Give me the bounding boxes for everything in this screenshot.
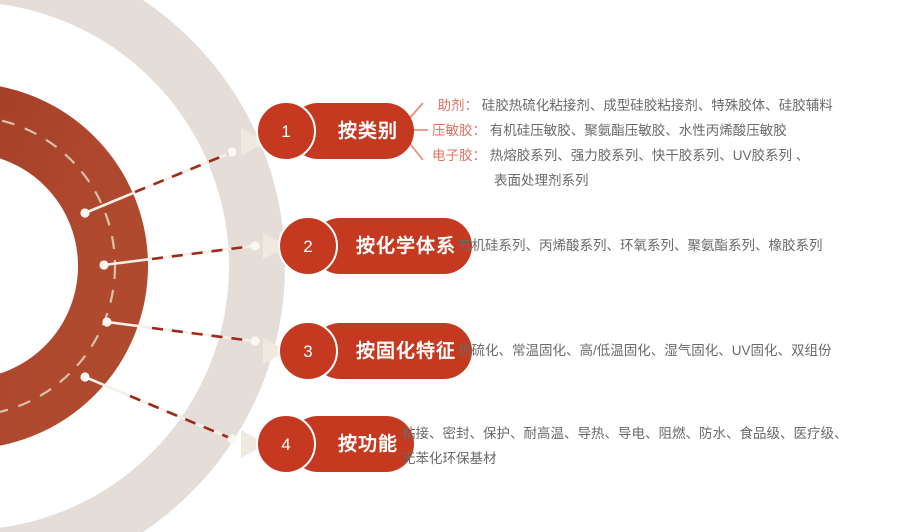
detail-value-1-1: 硅胶热硫化粘接剂、成型硅胶粘接剂、特殊胶体、硅胶辅料 xyxy=(482,98,833,113)
number-circle-3[interactable]: 3 xyxy=(278,321,338,381)
detail-key-1-3: 电子胶： xyxy=(432,143,486,168)
number-circle-2[interactable]: 2 xyxy=(278,216,338,276)
detail-key-1-2: 压敏胶： xyxy=(432,118,486,143)
number-1: 1 xyxy=(281,123,290,140)
inner-brick-ring xyxy=(0,118,113,414)
detail-value-2-1: 有机硅系列、丙烯酸系列、环氧系列、聚氨酯系列、橡胶系列 xyxy=(458,233,823,258)
detail-text-2: 有机硅系列、丙烯酸系列、环氧系列、聚氨酯系列、橡胶系列 xyxy=(458,233,823,258)
pill-label-2: 按化学体系 xyxy=(356,237,456,256)
number-circle-1[interactable]: 1 xyxy=(256,101,316,161)
detail-value-1-2: 有机硅压敏胶、聚氨酯压敏胶、水性丙烯酸压敏胶 xyxy=(490,123,787,138)
detail-line-1-1: 助剂： 硅胶热硫化粘接剂、成型硅胶粘接剂、特殊胶体、硅胶辅料 xyxy=(432,93,833,118)
detail-continuation-4: 无苯化环保基材 xyxy=(402,446,848,471)
detail-continuation-1: 表面处理剂系列 xyxy=(432,168,833,193)
pill-label-4: 按功能 xyxy=(338,435,398,454)
number-2: 2 xyxy=(303,238,312,255)
number-3: 3 xyxy=(303,343,312,360)
detail-key-1-1: 助剂： xyxy=(432,93,478,118)
infographic-canvas: 按类别 1 助剂： 硅胶热硫化粘接剂、成型硅胶粘接剂、特殊胶体、硅胶辅料 压敏胶… xyxy=(0,0,923,532)
detail-text-3: 热硫化、常温固化、高/低温固化、湿气固化、UV固化、双组份 xyxy=(458,338,832,363)
number-4: 4 xyxy=(281,436,290,453)
detail-text-1: 助剂： 硅胶热硫化粘接剂、成型硅胶粘接剂、特殊胶体、硅胶辅料 压敏胶： 有机硅压… xyxy=(432,93,833,193)
detail-line-1-2: 压敏胶： 有机硅压敏胶、聚氨酯压敏胶、水性丙烯酸压敏胶 xyxy=(432,118,833,143)
pill-label-1: 按类别 xyxy=(338,122,398,141)
number-circle-4[interactable]: 4 xyxy=(256,414,316,474)
pill-label-3: 按固化特征 xyxy=(356,342,456,361)
detail-text-4: 粘接、密封、保护、耐高温、导热、导电、阻燃、防水、食品级、医疗级、 无苯化环保基… xyxy=(402,421,848,471)
detail-value-1-3: 热熔胶系列、强力胶系列、快干胶系列、UV胶系列 、 xyxy=(490,148,810,163)
detail-value-3-1: 热硫化、常温固化、高/低温固化、湿气固化、UV固化、双组份 xyxy=(458,338,832,363)
detail-value-4-1: 粘接、密封、保护、耐高温、导热、导电、阻燃、防水、食品级、医疗级、 xyxy=(402,421,848,446)
detail-line-1-3: 电子胶： 热熔胶系列、强力胶系列、快干胶系列、UV胶系列 、 xyxy=(432,143,833,168)
